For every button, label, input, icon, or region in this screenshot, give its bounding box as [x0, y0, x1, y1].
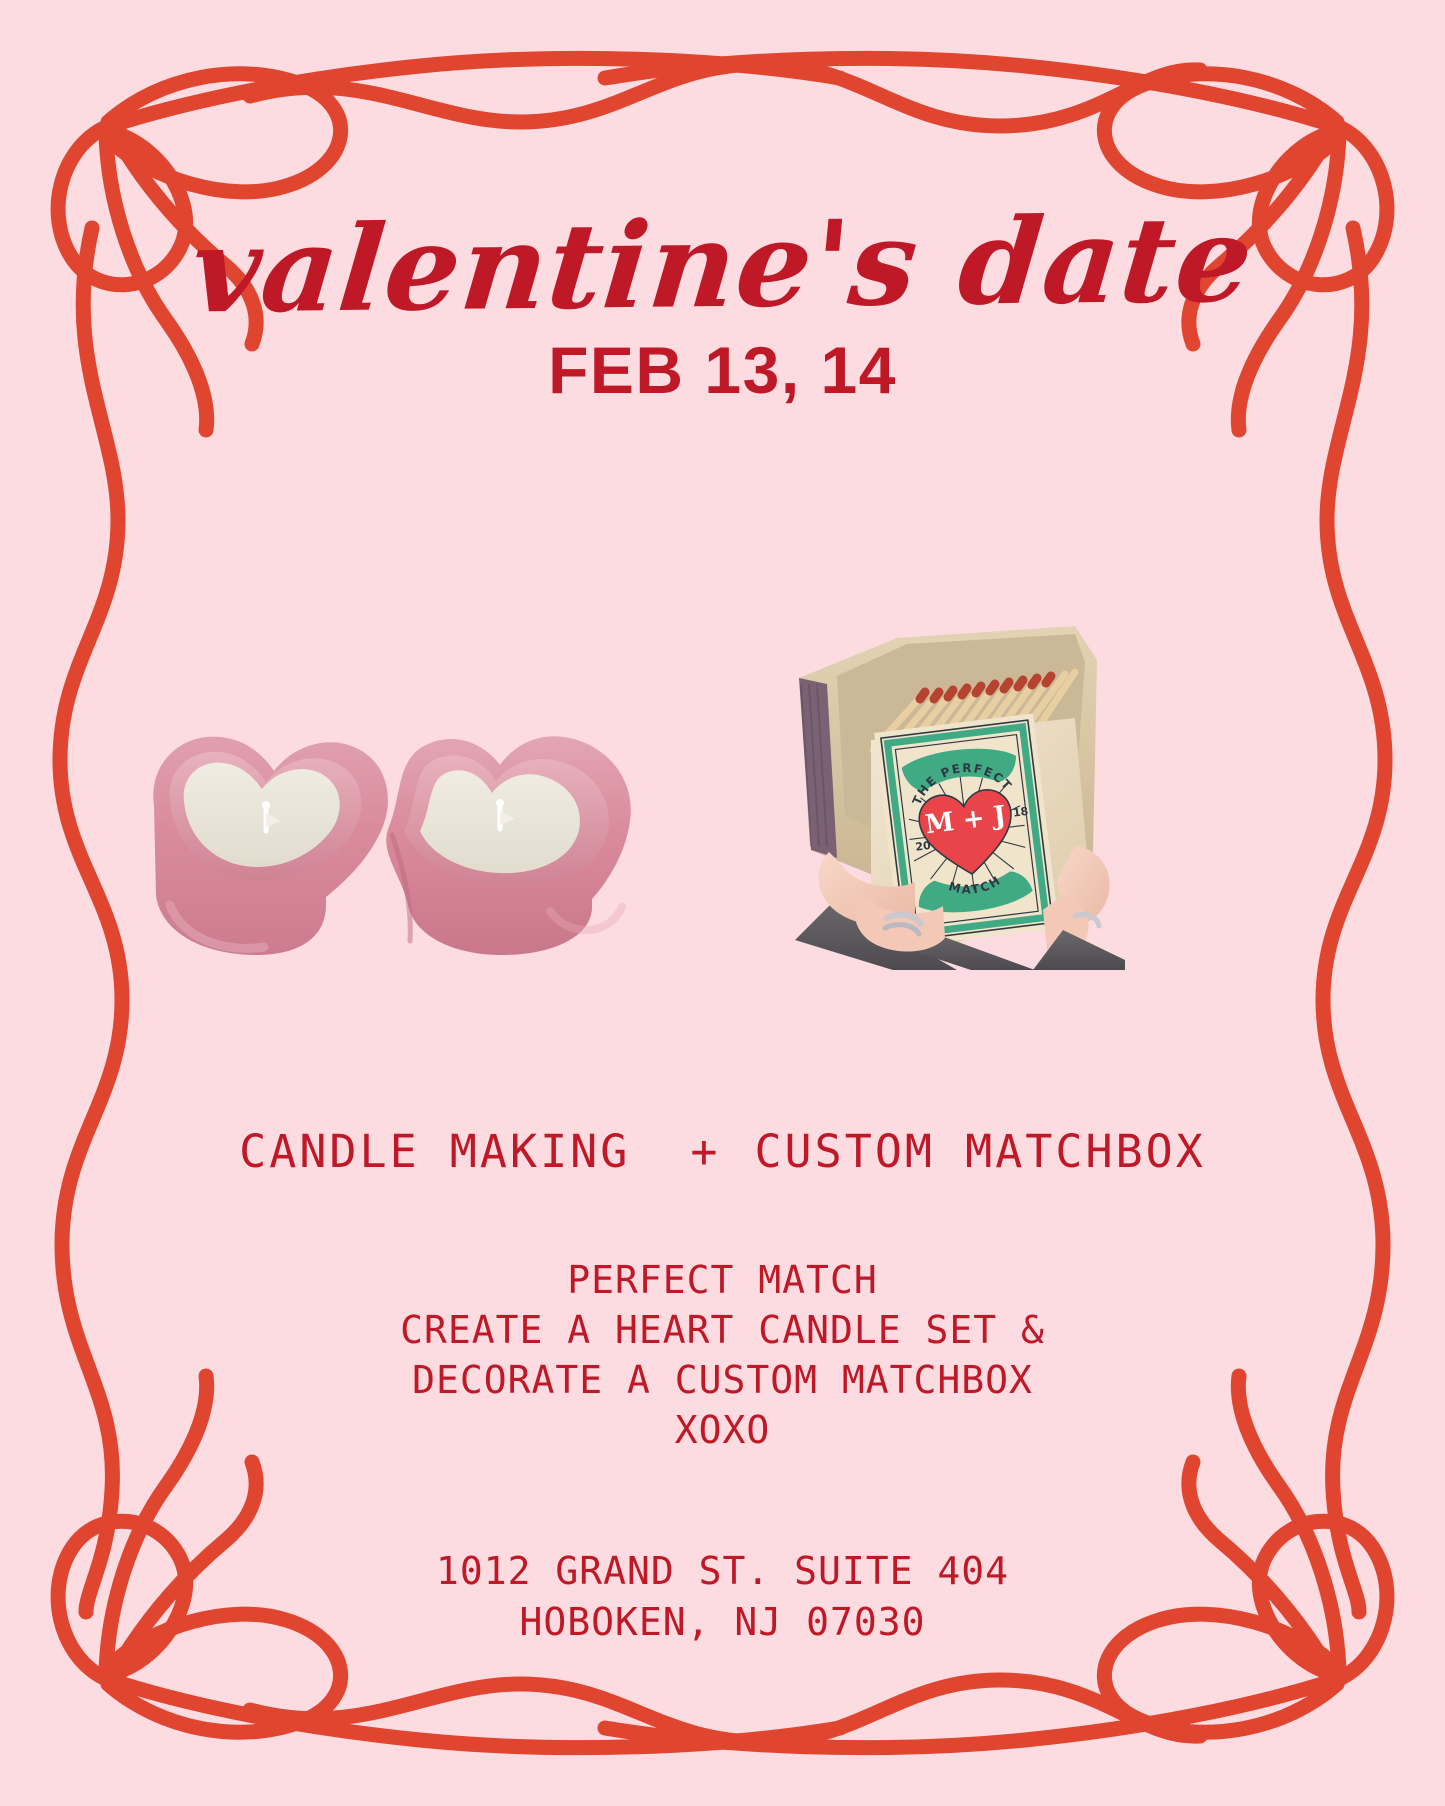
description-block: PERFECT MATCH CREATE A HEART CANDLE SET … [0, 1255, 1445, 1456]
border-wave-bottom [250, 1680, 1200, 1742]
candle-photo [140, 655, 660, 975]
title-block: valentine's date FEB 13, 14 [0, 206, 1445, 408]
matchbox-photo: M + J THE PERFECT MATCH 20 18 [775, 600, 1125, 970]
description-line-2: CREATE A HEART CANDLE SET & [0, 1305, 1445, 1355]
address-block: 1012 GRAND ST. SUITE 404 HOBOKEN, NJ 070… [0, 1546, 1445, 1648]
matchbox-year-right: 18 [1012, 805, 1029, 820]
description-line-4: XOXO [0, 1405, 1445, 1455]
candle-right-half [386, 736, 630, 955]
label-custom-matchbox: CUSTOM MATCHBOX [754, 1125, 1205, 1178]
page-title: valentine's date [0, 198, 1445, 331]
product-labels: CANDLE MAKING+CUSTOM MATCHBOX [0, 1125, 1445, 1178]
photo-row: M + J THE PERFECT MATCH 20 18 [0, 600, 1445, 1000]
description-line-3: DECORATE A CUSTOM MATCHBOX [0, 1355, 1445, 1405]
matchbox-year-left: 20 [915, 839, 932, 854]
event-date: FEB 13, 14 [0, 332, 1445, 408]
border-wave-top [250, 64, 1200, 126]
candle-left-half [153, 737, 388, 955]
address-line-2: HOBOKEN, NJ 07030 [0, 1597, 1445, 1648]
label-candle-making: CANDLE MAKING [239, 1125, 630, 1178]
address-line-1: 1012 GRAND ST. SUITE 404 [0, 1546, 1445, 1597]
description-line-1: PERFECT MATCH [0, 1255, 1445, 1305]
label-plus: + [656, 1125, 754, 1178]
valentines-date-flyer: valentine's date FEB 13, 14 [0, 0, 1445, 1806]
